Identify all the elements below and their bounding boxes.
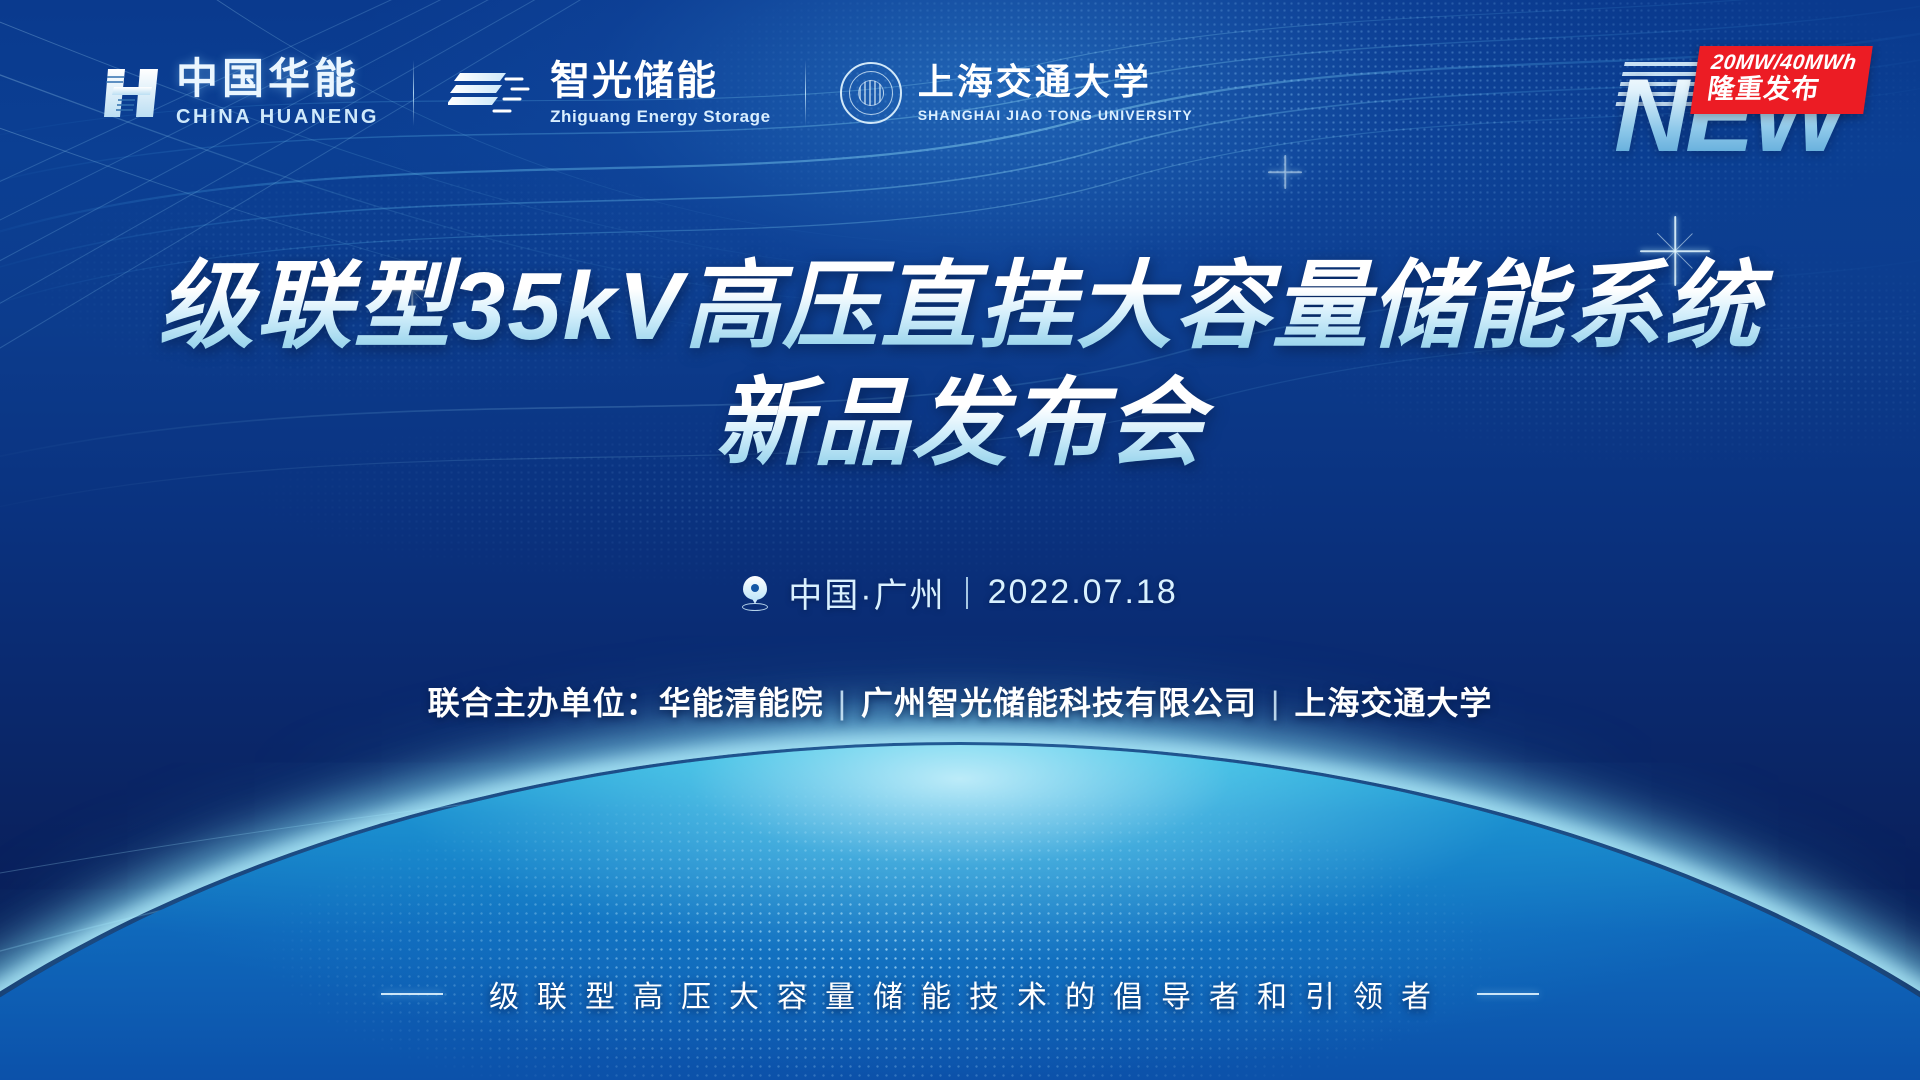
organizer-item: 上海交通大学 <box>1294 685 1492 721</box>
sjtu-seal-icon <box>840 62 902 124</box>
earth-atmosphere-glow <box>0 742 1920 1080</box>
tagline-rule-left <box>381 993 443 995</box>
new-release-badge: NEW 20MW/40MWh 隆重发布 <box>1614 40 1864 170</box>
capacity-spec: 20MW/40MWh <box>1710 52 1858 74</box>
tagline-rule-right <box>1477 993 1539 995</box>
release-label: 隆重发布 <box>1705 75 1854 105</box>
zhiguang-name-cn: 智光储能 <box>550 61 771 101</box>
event-date: 2022.07.18 <box>988 573 1178 612</box>
organizers-line: 联合主办单位：华能清能院|广州智光储能科技有限公司|上海交通大学 <box>0 678 1920 724</box>
logo-divider <box>805 60 806 126</box>
page-title: 级联型35kV高压直挂大容量储能系统 新品发布会 <box>0 252 1920 479</box>
logo-zhiguang-energy-storage: 智光储能 Zhiguang Energy Storage <box>448 61 771 125</box>
meta-divider <box>966 577 968 609</box>
tagline-text: 级联型高压大容量储能技术的倡导者和引领者 <box>471 972 1449 1016</box>
sparkle-icon <box>1268 155 1302 189</box>
logo-shanghai-jiao-tong-university: 上海交通大学 SHANGHAI JIAO TONG UNIVERSITY <box>840 62 1193 124</box>
event-poster: 中国华能 CHINA HUANENG <box>0 0 1920 1080</box>
zhiguang-name-en: Zhiguang Energy Storage <box>550 108 771 125</box>
organizer-item: 华能清能院 <box>659 685 824 721</box>
location-pin-icon <box>742 576 768 610</box>
zhiguang-stripes-icon <box>448 67 536 119</box>
organizer-separator: | <box>838 685 847 721</box>
title-line-1: 级联型35kV高压直挂大容量储能系统 <box>0 252 1920 361</box>
huaneng-name-en: CHINA HUANENG <box>176 107 379 127</box>
event-meta: 中国·广州 2022.07.18 <box>0 568 1920 617</box>
sjtu-name-cn: 上海交通大学 <box>918 64 1193 100</box>
logo-china-huaneng: 中国华能 CHINA HUANENG <box>104 58 379 127</box>
event-location: 中国·广州 <box>788 568 945 617</box>
organizers-label: 联合主办单位： <box>428 685 659 721</box>
huaneng-h-icon <box>104 63 160 123</box>
logo-divider <box>413 60 414 126</box>
sjtu-name-en: SHANGHAI JIAO TONG UNIVERSITY <box>918 108 1193 122</box>
sponsor-logo-bar: 中国华能 CHINA HUANENG <box>104 58 1193 127</box>
capacity-highlight-badge: 20MW/40MWh 隆重发布 <box>1690 46 1873 114</box>
organizer-item: 广州智光储能科技有限公司 <box>861 685 1257 721</box>
huaneng-name-cn: 中国华能 <box>176 58 379 100</box>
footer-tagline: 级联型高压大容量储能技术的倡导者和引领者 <box>0 972 1920 1016</box>
title-line-2: 新品发布会 <box>0 369 1920 478</box>
organizer-separator: | <box>1271 685 1280 721</box>
